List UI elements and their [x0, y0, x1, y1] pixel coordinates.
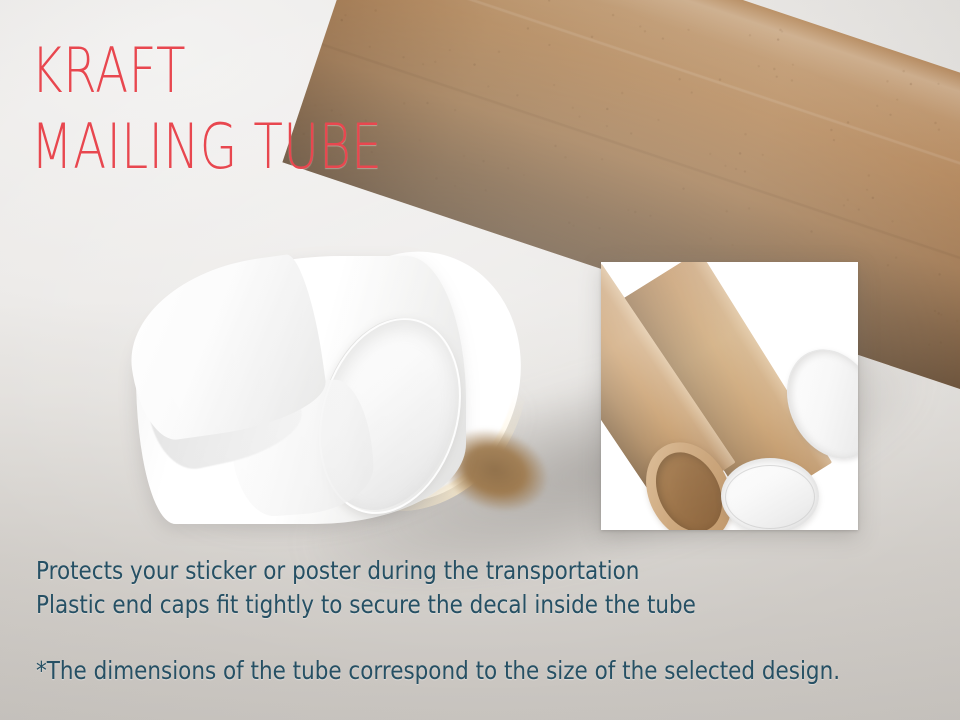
product-banner: KRAFTMAILING TUBE Protects your sticker …	[0, 0, 960, 720]
feature-line-2: Plastic end caps fit tightly to secure t…	[36, 590, 696, 619]
page-title: KRAFTMAILING TUBE	[31, 33, 382, 185]
feature-line-1: Protects your sticker or poster during t…	[36, 556, 639, 585]
rolled-poster	[136, 256, 466, 524]
title-line-1: KRAFT	[31, 34, 186, 107]
inset-product-photo	[601, 262, 858, 530]
title-line-2: MAILING TUBE	[31, 109, 382, 185]
footnote-text: *The dimensions of the tube correspond t…	[36, 655, 840, 687]
feature-list: Protects your sticker or poster during t…	[36, 554, 696, 622]
inset-end-cap-loose-rim	[725, 465, 815, 529]
